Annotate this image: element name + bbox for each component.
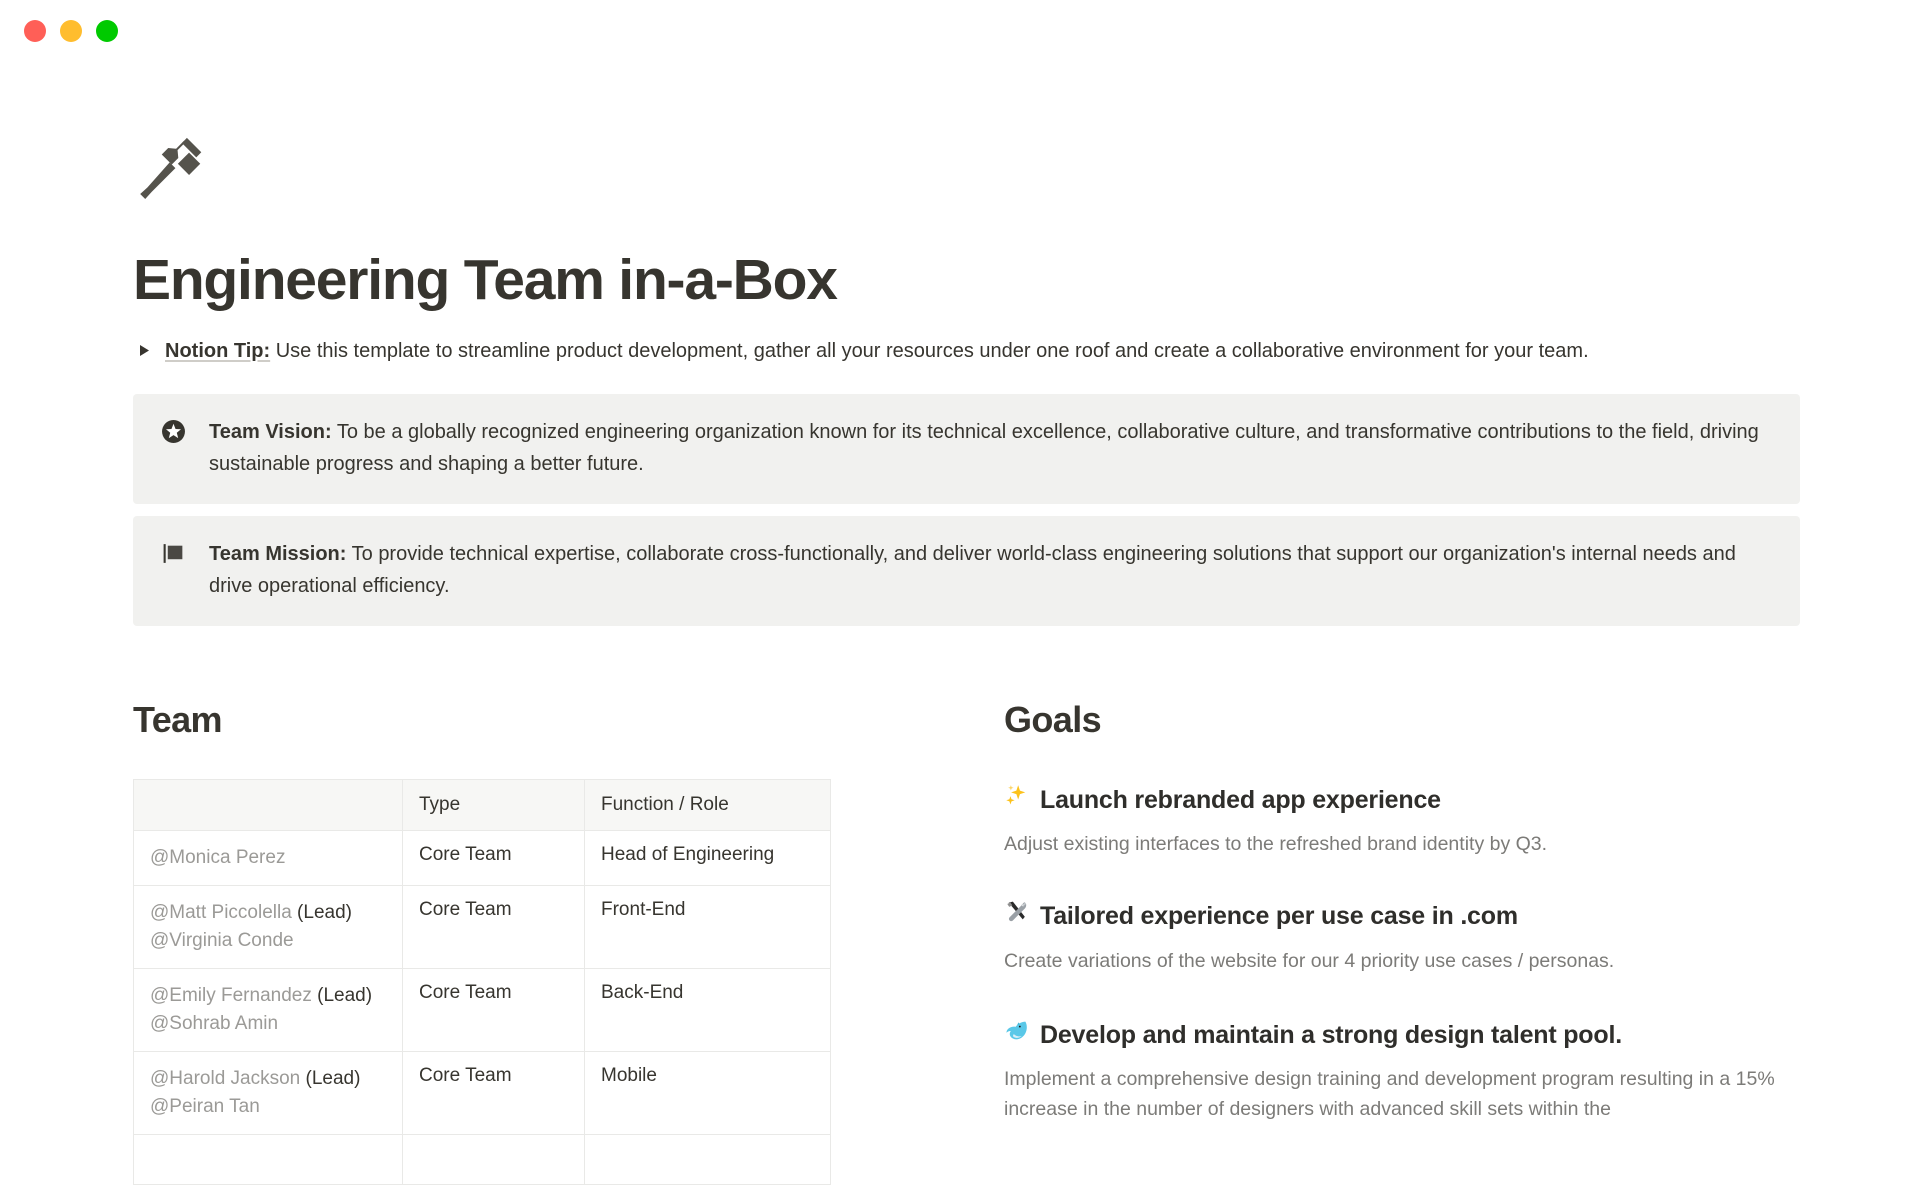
goal-title: Launch rebranded app experience xyxy=(1040,784,1441,817)
maximize-button[interactable] xyxy=(96,20,118,42)
column-header-type[interactable]: Type xyxy=(403,779,585,830)
member-line: @Matt Piccolella (Lead) xyxy=(150,899,386,927)
team-mission-body: To provide technical expertise, collabor… xyxy=(209,543,1736,597)
cell-type[interactable]: Core Team xyxy=(403,885,585,968)
team-column: Team Type Function / Role @Monica Perez xyxy=(133,698,1000,1185)
member-line: @Sohrab Amin xyxy=(150,1010,386,1038)
page-title: Engineering Team in-a-Box xyxy=(133,248,1800,314)
column-header-name[interactable] xyxy=(134,779,403,830)
member-suffix: (Lead) xyxy=(292,902,352,923)
member-mention[interactable]: @Emily Fernandez xyxy=(150,985,312,1006)
window-title-bar xyxy=(0,0,1920,62)
team-mission-callout: Team Mission: To provide technical exper… xyxy=(133,516,1800,626)
member-mention[interactable]: @Monica Perez xyxy=(150,847,285,868)
goal-title-row: Develop and maintain a strong design tal… xyxy=(1004,1018,1800,1052)
team-vision-text: Team Vision: To be a globally recognized… xyxy=(209,416,1774,480)
cell-type[interactable]: Core Team xyxy=(403,968,585,1051)
member-line: @Virginia Conde xyxy=(150,927,386,955)
triangle-right-icon[interactable] xyxy=(133,336,155,366)
hammer-and-wrench-icon xyxy=(1004,899,1029,924)
flag-icon xyxy=(159,538,187,568)
table-row[interactable]: @Harold Jackson (Lead) @Peiran Tan Core … xyxy=(134,1051,831,1134)
notion-tip-label: Notion Tip: xyxy=(165,340,270,362)
goal-title: Develop and maintain a strong design tal… xyxy=(1040,1019,1622,1052)
close-button[interactable] xyxy=(24,20,46,42)
cell-type[interactable]: Core Team xyxy=(403,1051,585,1134)
cell-type[interactable] xyxy=(403,1134,585,1184)
dolphin-icon xyxy=(1004,1018,1029,1043)
minimize-button[interactable] xyxy=(60,20,82,42)
goal-title-row: Launch rebranded app experience xyxy=(1004,783,1800,817)
member-mention[interactable]: @Harold Jackson xyxy=(150,1068,300,1089)
goals-heading: Goals xyxy=(1004,698,1800,741)
cell-members[interactable]: @Monica Perez xyxy=(134,830,403,885)
team-vision-body: To be a globally recognized engineering … xyxy=(209,421,1759,475)
table-row[interactable] xyxy=(134,1134,831,1184)
goals-column: Goals Launch rebranded app experience A xyxy=(1000,698,1800,1125)
table-row[interactable]: @Emily Fernandez (Lead) @Sohrab Amin Cor… xyxy=(134,968,831,1051)
member-suffix: (Lead) xyxy=(312,985,372,1006)
member-line: @Harold Jackson (Lead) xyxy=(150,1065,386,1093)
table-row[interactable]: @Matt Piccolella (Lead) @Virginia Conde … xyxy=(134,885,831,968)
two-column-layout: Team Type Function / Role @Monica Perez xyxy=(133,698,1800,1185)
cell-role[interactable]: Front-End xyxy=(585,885,831,968)
sparkles-icon xyxy=(1004,783,1029,808)
cell-role[interactable]: Mobile xyxy=(585,1051,831,1134)
goal-description: Adjust existing interfaces to the refres… xyxy=(1004,829,1800,859)
notion-tip-body: Use this template to streamline product … xyxy=(270,340,1588,362)
table-header-row: Type Function / Role xyxy=(134,779,831,830)
cell-members[interactable]: @Emily Fernandez (Lead) @Sohrab Amin xyxy=(134,968,403,1051)
hammer-icon[interactable] xyxy=(133,128,229,224)
team-mission-text: Team Mission: To provide technical exper… xyxy=(209,538,1774,602)
cell-members[interactable]: @Harold Jackson (Lead) @Peiran Tan xyxy=(134,1051,403,1134)
cell-role[interactable] xyxy=(585,1134,831,1184)
goal-title: Tailored experience per use case in .com xyxy=(1040,900,1518,933)
column-header-role[interactable]: Function / Role xyxy=(585,779,831,830)
notion-tip-toggle-block[interactable]: Notion Tip: Use this template to streaml… xyxy=(133,336,1800,366)
table-row[interactable]: @Monica Perez Core Team Head of Engineer… xyxy=(134,830,831,885)
team-vision-label: Team Vision: xyxy=(209,421,332,443)
team-table: Type Function / Role @Monica Perez Core … xyxy=(133,779,831,1185)
goal-item: Develop and maintain a strong design tal… xyxy=(1004,1018,1800,1125)
cell-role[interactable]: Back-End xyxy=(585,968,831,1051)
cell-role[interactable]: Head of Engineering xyxy=(585,830,831,885)
team-vision-callout: Team Vision: To be a globally recognized… xyxy=(133,394,1800,504)
team-heading: Team xyxy=(133,698,1000,741)
member-line: @Peiran Tan xyxy=(150,1093,386,1121)
goal-item: Tailored experience per use case in .com… xyxy=(1004,899,1800,976)
member-mention[interactable]: @Matt Piccolella xyxy=(150,902,292,923)
page-content: Engineering Team in-a-Box Notion Tip: Us… xyxy=(0,128,1920,1185)
cell-members[interactable] xyxy=(134,1134,403,1184)
cell-members[interactable]: @Matt Piccolella (Lead) @Virginia Conde xyxy=(134,885,403,968)
team-table-head: Type Function / Role xyxy=(134,779,831,830)
member-mention[interactable]: @Virginia Conde xyxy=(150,930,294,951)
team-table-body: @Monica Perez Core Team Head of Engineer… xyxy=(134,830,831,1184)
goal-description: Implement a comprehensive design trainin… xyxy=(1004,1064,1800,1124)
notion-tip-text: Notion Tip: Use this template to streaml… xyxy=(165,336,1589,366)
member-mention[interactable]: @Peiran Tan xyxy=(150,1096,260,1117)
goal-description: Create variations of the website for our… xyxy=(1004,946,1800,976)
page-canvas: Engineering Team in-a-Box Notion Tip: Us… xyxy=(0,62,1920,1200)
goal-item: Launch rebranded app experience Adjust e… xyxy=(1004,783,1800,860)
member-suffix: (Lead) xyxy=(300,1068,360,1089)
cell-type[interactable]: Core Team xyxy=(403,830,585,885)
member-line: @Emily Fernandez (Lead) xyxy=(150,982,386,1010)
member-line: @Monica Perez xyxy=(150,844,386,872)
member-mention[interactable]: @Sohrab Amin xyxy=(150,1013,278,1034)
goal-title-row: Tailored experience per use case in .com xyxy=(1004,899,1800,933)
team-mission-label: Team Mission: xyxy=(209,543,346,565)
star-circle-icon xyxy=(159,416,187,446)
